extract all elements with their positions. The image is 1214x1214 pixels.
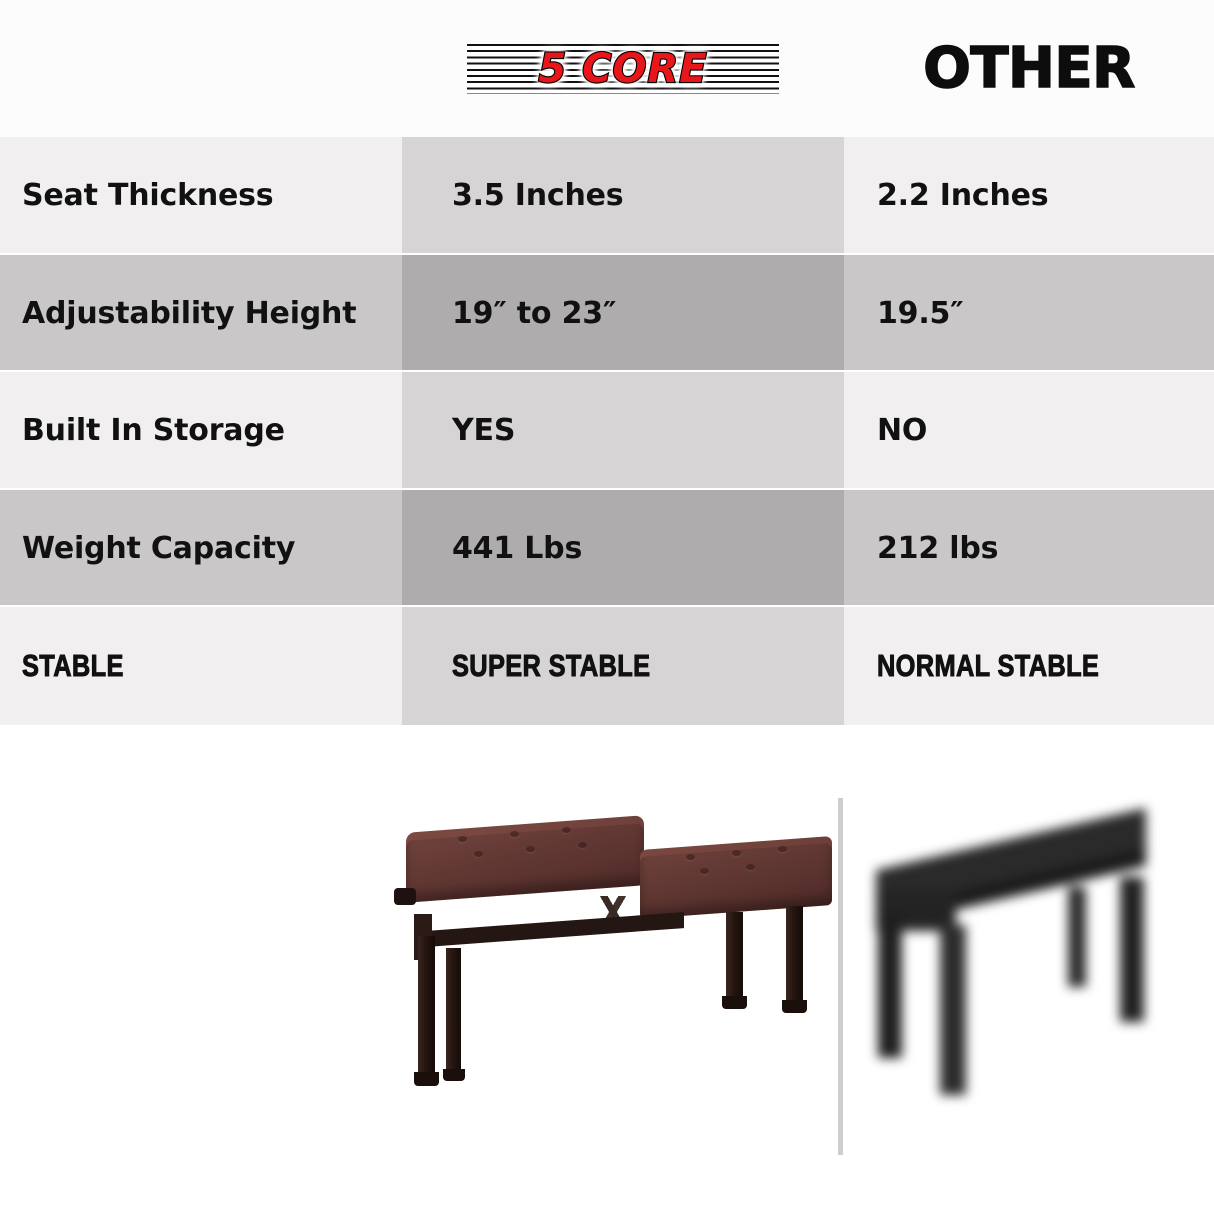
feature-label: Weight Capacity	[22, 532, 295, 565]
seat-tuft	[686, 854, 695, 860]
feature-cell: Built In Storage	[0, 372, 402, 490]
table-row: Built In Storage YES NO	[0, 372, 1214, 490]
other-value: 19.5″	[877, 297, 963, 330]
seat-tuft	[778, 846, 787, 852]
core-value-cell: 441 Lbs	[402, 490, 844, 608]
bench-leg-foot	[722, 996, 747, 1009]
core-value: SUPER STABLE	[452, 649, 650, 683]
core-value: 3.5 Inches	[452, 179, 623, 212]
seat-tuft	[700, 868, 709, 874]
feature-cell: Weight Capacity	[0, 490, 402, 608]
core-value: YES	[452, 414, 515, 447]
bench-frame-rail	[414, 912, 684, 948]
bench-leg	[418, 936, 435, 1081]
bench-leg-foot	[782, 1000, 807, 1013]
other-value-cell: NO	[844, 372, 1214, 490]
competitor-header-cell: OTHER	[844, 0, 1214, 137]
seat-tuft	[510, 831, 519, 837]
table-row: Adjustability Height 19″ to 23″ 19.5″	[0, 255, 1214, 373]
core-value: 441 Lbs	[452, 532, 582, 565]
feature-label: Seat Thickness	[22, 179, 273, 212]
seat-tuft	[562, 827, 571, 833]
seat-tuft	[474, 851, 483, 857]
other-bench-leg	[1120, 877, 1144, 1022]
seat-tuft	[732, 850, 741, 856]
other-value: 212 lbs	[877, 532, 998, 565]
seat-tuft	[578, 842, 587, 848]
other-value: 2.2 Inches	[877, 179, 1048, 212]
table-row: Weight Capacity 441 Lbs 212 lbs	[0, 490, 1214, 608]
comparison-header: 5 CORE 5 CORE OTHER	[0, 0, 1214, 137]
bench-leg-foot	[443, 1069, 465, 1081]
seat-tuft	[526, 846, 535, 852]
other-value-cell: NORMAL STABLE	[844, 607, 1214, 725]
brand-logo-cell: 5 CORE 5 CORE	[402, 0, 844, 137]
other-bench-leg	[1068, 887, 1086, 987]
seat-tuft	[746, 864, 755, 870]
feature-cell: Adjustability Height	[0, 255, 402, 373]
other-bench-leg	[940, 925, 966, 1095]
other-value: NO	[877, 414, 927, 447]
product-image-area	[0, 725, 1214, 1214]
other-value-cell: 19.5″	[844, 255, 1214, 373]
feature-cell: STABLE	[0, 607, 402, 725]
table-row: STABLE SUPER STABLE NORMAL STABLE	[0, 607, 1214, 725]
bench-leg	[726, 912, 743, 1004]
core-value-cell: YES	[402, 372, 844, 490]
comparison-table: Seat Thickness 3.5 Inches 2.2 Inches Adj…	[0, 137, 1214, 725]
feature-label: STABLE	[22, 649, 124, 683]
feature-label: Adjustability Height	[22, 297, 356, 330]
core-value-cell: 3.5 Inches	[402, 137, 844, 255]
other-value-cell: 212 lbs	[844, 490, 1214, 608]
five-core-logo-icon: 5 CORE 5 CORE	[467, 40, 779, 98]
seat-tuft	[458, 836, 467, 842]
vertical-divider-line	[838, 798, 843, 1155]
logo-wordmark: 5 CORE	[467, 40, 779, 98]
core-value: 19″ to 23″	[452, 297, 616, 330]
feature-cell: Seat Thickness	[0, 137, 402, 255]
table-row: Seat Thickness 3.5 Inches 2.2 Inches	[0, 137, 1214, 255]
other-product-image	[868, 805, 1188, 1125]
core-value-cell: 19″ to 23″	[402, 255, 844, 373]
other-value-cell: 2.2 Inches	[844, 137, 1214, 255]
competitor-title: OTHER	[923, 41, 1135, 97]
core-product-image	[388, 810, 833, 1100]
bench-leg	[446, 948, 461, 1078]
bench-leg-foot	[414, 1072, 439, 1086]
other-value: NORMAL STABLE	[877, 649, 1099, 683]
other-bench-leg	[878, 913, 902, 1058]
adjust-knob-icon	[394, 888, 416, 905]
feature-label: Built In Storage	[22, 414, 285, 447]
core-value-cell: SUPER STABLE	[402, 607, 844, 725]
bench-leg	[786, 906, 803, 1008]
